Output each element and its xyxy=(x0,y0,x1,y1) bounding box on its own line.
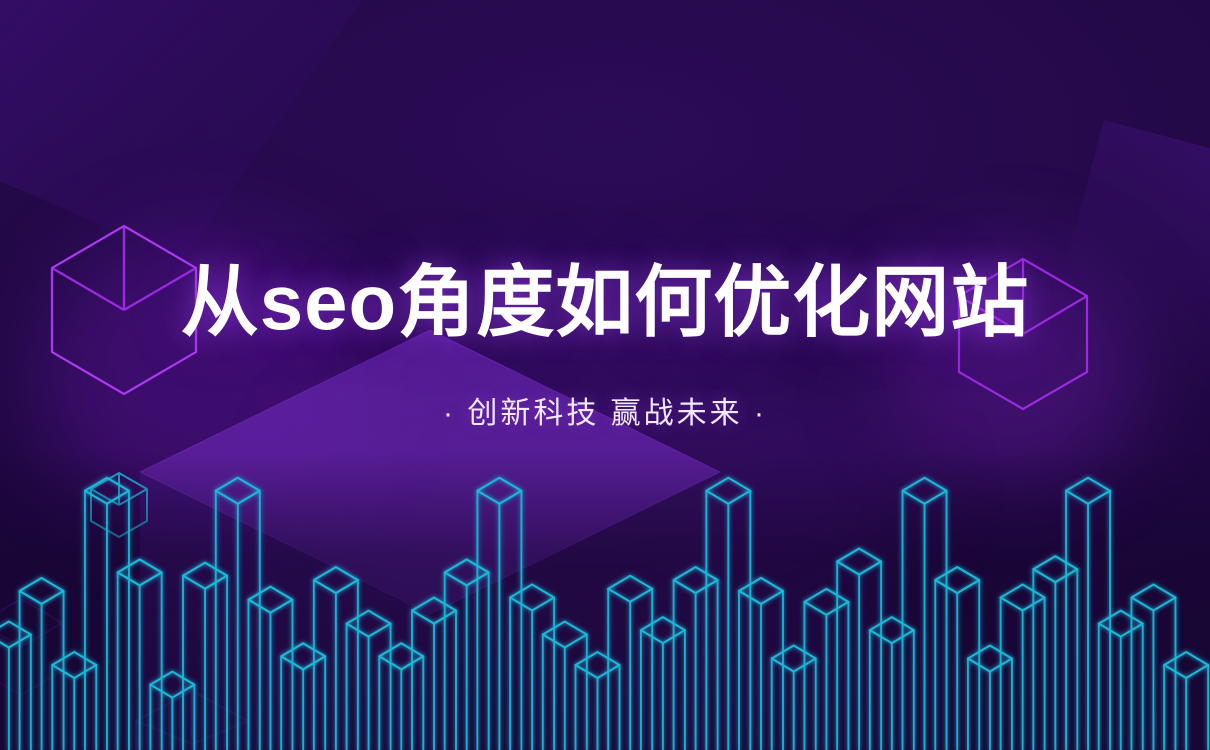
hero-text-block: 从seo角度如何优化网站 · 创新科技 赢战未来 · xyxy=(0,262,1210,432)
page-subtitle: · 创新科技 赢战未来 · xyxy=(0,388,1210,432)
hero-banner: 从seo角度如何优化网站 · 创新科技 赢战未来 · xyxy=(0,0,1210,750)
isometric-bar-chart xyxy=(0,430,1210,750)
bar-group xyxy=(0,478,1208,750)
top-left-facet-decoration xyxy=(0,0,390,260)
page-title: 从seo角度如何优化网站 xyxy=(0,262,1210,344)
bar-chart-canvas xyxy=(0,430,1210,750)
